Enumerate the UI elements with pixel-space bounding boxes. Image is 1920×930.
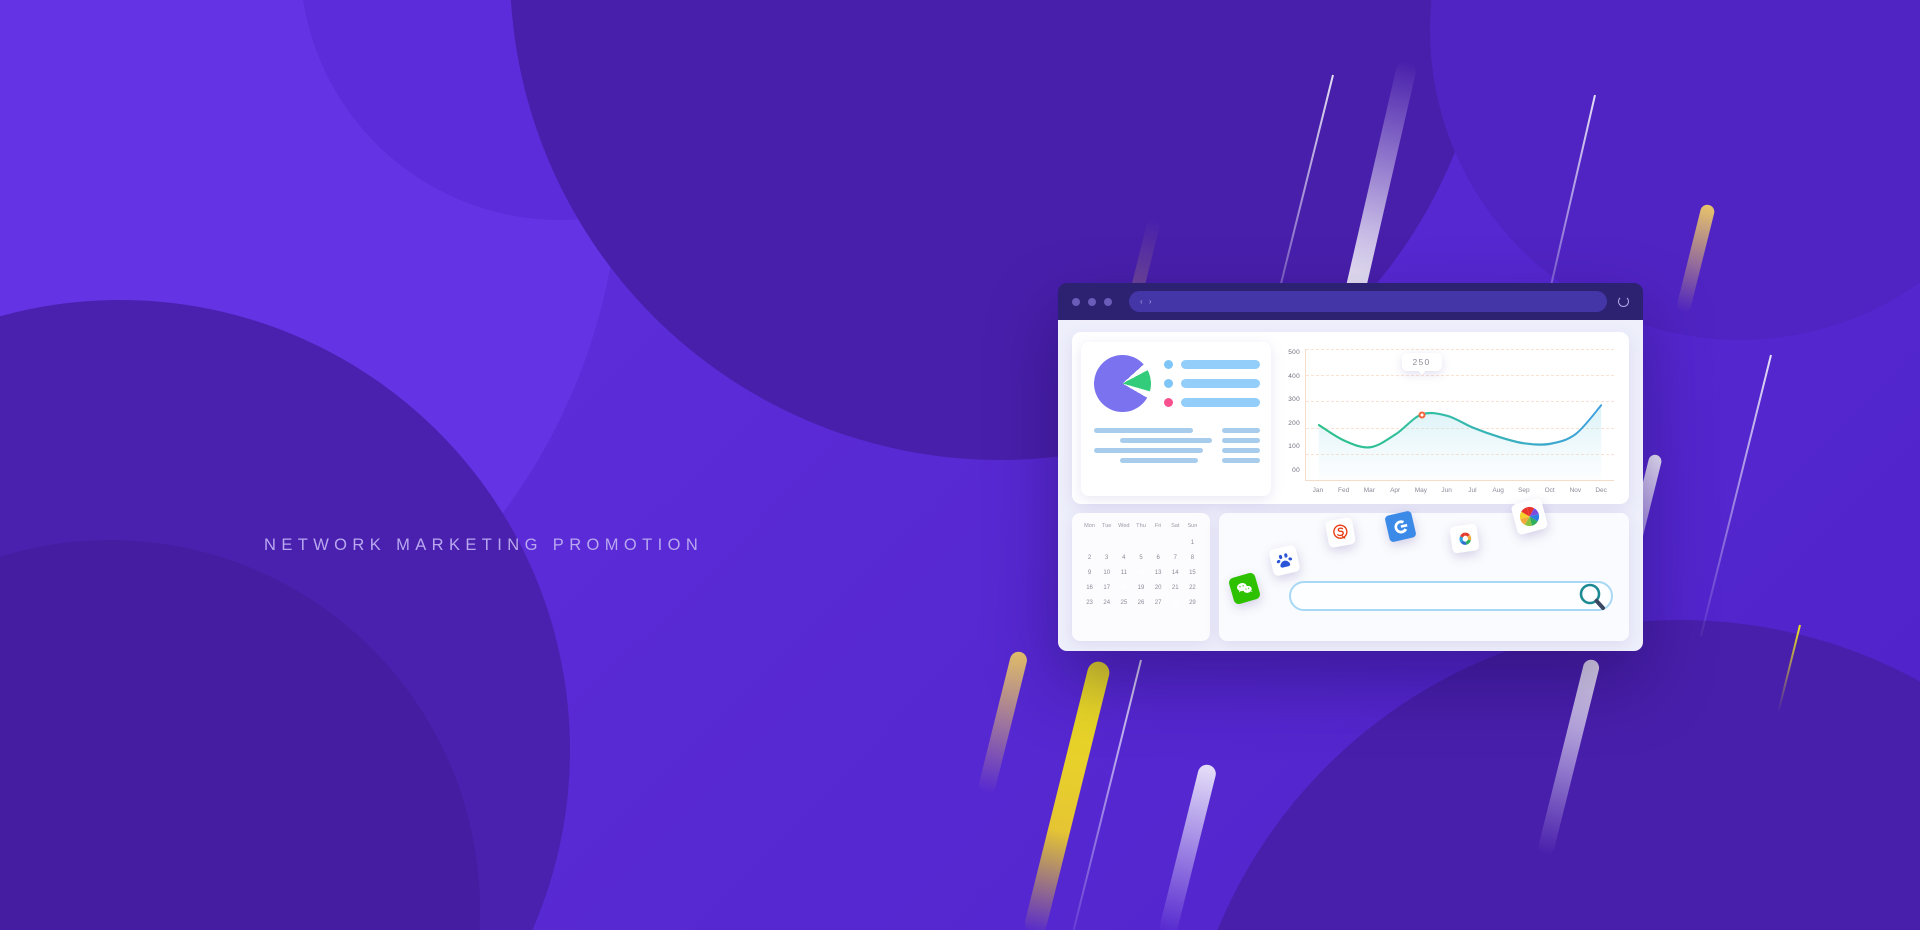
legend-item	[1164, 379, 1260, 388]
calendar-day[interactable]: 7	[1167, 553, 1184, 564]
calendar-day-label: 21	[1172, 585, 1179, 591]
calendar-day[interactable]: 28	[1167, 598, 1184, 609]
calendar-day-label: 7	[1174, 555, 1177, 561]
calendar-day-label: 23	[1086, 600, 1093, 606]
magnifier-icon[interactable]	[1577, 581, 1607, 618]
calendar-day-label: 18	[1121, 585, 1128, 591]
calendar-day-label: 29	[1189, 600, 1196, 606]
pie-legend	[1164, 360, 1260, 407]
calendar-day-label: 1	[1191, 540, 1194, 546]
legend-bar-3	[1181, 398, 1260, 407]
chart-marker-point	[1418, 411, 1425, 418]
legend-bar-1	[1181, 360, 1260, 369]
close-icon[interactable]	[1072, 298, 1080, 306]
bottom-row: MonTueWedThuFriSatSun1234567891011121314…	[1072, 513, 1629, 641]
streak-gold-3	[1023, 659, 1112, 930]
calendar-day-label: 22	[1189, 585, 1196, 591]
window-controls[interactable]	[1072, 298, 1118, 306]
calendar-day[interactable]: 3	[1098, 553, 1115, 564]
calendar-day-label: 16	[1086, 585, 1093, 591]
calendar-day[interactable]: 12	[1132, 568, 1149, 579]
calendar-day[interactable]: 19	[1132, 583, 1149, 594]
sogou-icon[interactable]	[1325, 517, 1356, 548]
calendar-blank	[1167, 538, 1184, 549]
calendar-day-label: 14	[1172, 570, 1179, 576]
pie-panel	[1081, 342, 1271, 496]
x-tick: Jul	[1460, 487, 1486, 494]
calendar-day-label: 10	[1103, 570, 1110, 576]
calendar-weekday: Sun	[1184, 523, 1201, 534]
baidu-icon[interactable]	[1268, 544, 1300, 576]
calendar-day-label: 28	[1172, 600, 1179, 606]
calendar-day-label: 11	[1121, 570, 1127, 576]
x-tick: Dec	[1588, 487, 1614, 494]
calendar-day-label: 2	[1088, 555, 1091, 561]
calendar-day-label: 27	[1155, 600, 1162, 606]
calendar-day[interactable]: 5	[1132, 553, 1149, 564]
x-tick: Sep	[1511, 487, 1537, 494]
line-chart-panel: 50040030020010000	[1276, 342, 1618, 496]
chart-tooltip: 250	[1401, 353, 1441, 371]
calendar-day[interactable]: 2	[1081, 553, 1098, 564]
calendar-day[interactable]: 6	[1150, 553, 1167, 564]
search-input[interactable]	[1305, 591, 1597, 601]
text-bar	[1222, 448, 1260, 453]
pie-row	[1094, 355, 1260, 412]
calendar-day[interactable]: 24	[1098, 598, 1115, 609]
calendar-day[interactable]: 15	[1184, 568, 1201, 579]
calendar-day[interactable]: 26	[1132, 598, 1149, 609]
calendar-day[interactable]: 10	[1098, 568, 1115, 579]
reload-icon[interactable]	[1618, 296, 1629, 307]
calendar-day-label: 4	[1122, 555, 1125, 561]
calendar-day-label: 8	[1191, 555, 1194, 561]
pie-chart-icon	[1094, 355, 1151, 412]
text-bar	[1094, 428, 1193, 433]
calendar-weekday: Thu	[1132, 523, 1149, 534]
browser-viewport: 50040030020010000	[1058, 320, 1643, 651]
x-tick: May	[1408, 487, 1434, 494]
x-tick: Oct	[1537, 487, 1563, 494]
chart-svg	[1306, 349, 1614, 480]
legend-item	[1164, 398, 1260, 407]
y-tick: 500	[1283, 349, 1300, 356]
calendar-day-label: 26	[1138, 600, 1145, 606]
calendar-day[interactable]: 1	[1184, 538, 1201, 549]
calendar-day[interactable]: 29	[1184, 598, 1201, 609]
calendar-day[interactable]: 27	[1150, 598, 1167, 609]
calendar-day-label: 12	[1138, 570, 1145, 576]
calendar-day[interactable]: 18	[1115, 583, 1132, 594]
calendar-weekday: Sat	[1167, 523, 1184, 534]
calendar-day-label: 9	[1088, 570, 1091, 576]
legend-item	[1164, 360, 1260, 369]
calendar-day[interactable]: 23	[1081, 598, 1098, 609]
calendar-day-label: 5	[1139, 555, 1142, 561]
calendar-weekday: Tue	[1098, 523, 1115, 534]
y-tick: 200	[1283, 420, 1300, 427]
calendar-day[interactable]: 21	[1167, 583, 1184, 594]
calendar-day-label: 13	[1155, 570, 1162, 576]
streak-thin-3	[1700, 355, 1772, 637]
streak-wide-5	[1158, 763, 1218, 930]
maximize-icon[interactable]	[1104, 298, 1112, 306]
calendar-weekday: Fri	[1150, 523, 1167, 534]
so360-icon[interactable]	[1449, 523, 1479, 553]
x-tick: Aug	[1485, 487, 1511, 494]
text-bar	[1120, 458, 1198, 463]
page-stage: NETWORK MARKETING PROMOTION ‹ ›	[0, 0, 1920, 930]
browser-window: ‹ ›	[1058, 283, 1643, 651]
calendar-day-label: 20	[1155, 585, 1162, 591]
calendar-day-label: 3	[1105, 555, 1108, 561]
chart-plot-area: 250	[1305, 349, 1614, 481]
calendar-blank	[1115, 538, 1132, 549]
calendar-blank	[1150, 538, 1167, 549]
search-card	[1219, 513, 1629, 641]
calendar-blank	[1098, 538, 1115, 549]
calendar-day-label: 24	[1103, 600, 1110, 606]
calendar-day[interactable]: 16	[1081, 583, 1098, 594]
text-bars-left	[1094, 428, 1212, 463]
legend-dot-2	[1164, 379, 1173, 388]
calendar-blank	[1081, 538, 1098, 549]
y-tick: 100	[1283, 443, 1300, 450]
analytics-card: 50040030020010000	[1072, 332, 1629, 504]
calendar-day-label: 17	[1103, 585, 1110, 591]
calendar-day[interactable]: 22	[1184, 583, 1201, 594]
calendar-day[interactable]: 9	[1081, 568, 1098, 579]
calendar-grid[interactable]: MonTueWedThuFriSatSun1234567891011121314…	[1081, 523, 1201, 609]
text-bar	[1222, 428, 1260, 433]
wechat-icon[interactable]	[1228, 572, 1261, 605]
calendar-day[interactable]: 8	[1184, 553, 1201, 564]
x-tick: Jan	[1305, 487, 1331, 494]
streak-gold-2	[977, 650, 1029, 795]
pie-text-placeholder	[1094, 428, 1260, 463]
legend-dot-3	[1164, 398, 1173, 407]
calendar-weekday: Wed	[1115, 523, 1132, 534]
calendar-day[interactable]: 20	[1150, 583, 1167, 594]
address-bar[interactable]: ‹ ›	[1129, 291, 1607, 312]
legend-dot-1	[1164, 360, 1173, 369]
calendar-day-label: 25	[1121, 600, 1128, 606]
text-bar	[1222, 438, 1260, 443]
y-tick: 300	[1283, 396, 1300, 403]
calendar-day-label: 19	[1138, 585, 1145, 591]
y-tick: 00	[1283, 467, 1300, 474]
calendar-day[interactable]: 25	[1115, 598, 1132, 609]
text-bars-right	[1222, 428, 1260, 463]
x-tick: Fed	[1331, 487, 1357, 494]
minimize-icon[interactable]	[1088, 298, 1096, 306]
calendar-blank	[1132, 538, 1149, 549]
text-bar	[1222, 458, 1260, 463]
calendar-weekday: Mon	[1081, 523, 1098, 534]
chart-x-axis: JanFedMarAprMayJunJulAugSepOctNovDec	[1305, 481, 1614, 494]
browser-chrome: ‹ ›	[1058, 283, 1643, 320]
nav-arrows-icon[interactable]: ‹ ›	[1140, 298, 1154, 306]
bg-blob-e	[1180, 620, 1920, 930]
search-input-wrap[interactable]	[1289, 581, 1613, 611]
chart-plot-wrap: 250 JanFedMarAprMayJunJulAugSepOctNovDec	[1305, 349, 1614, 494]
calendar-day-label: 15	[1189, 570, 1196, 576]
calendar-day[interactable]: 13	[1150, 568, 1167, 579]
x-tick: Jun	[1434, 487, 1460, 494]
x-tick: Apr	[1382, 487, 1408, 494]
y-tick: 400	[1283, 373, 1300, 380]
x-tick: Mar	[1357, 487, 1383, 494]
x-tick: Nov	[1563, 487, 1589, 494]
calendar-day-label: 6	[1156, 555, 1159, 561]
calendar-day[interactable]: 14	[1167, 568, 1184, 579]
calendar-day[interactable]: 17	[1098, 583, 1115, 594]
text-bar	[1094, 448, 1203, 453]
text-bar	[1120, 438, 1212, 443]
chart-y-axis: 50040030020010000	[1283, 349, 1305, 494]
google-icon[interactable]	[1384, 510, 1416, 542]
legend-bar-2	[1181, 379, 1260, 388]
page-title: NETWORK MARKETING PROMOTION	[264, 536, 703, 555]
calendar-card[interactable]: MonTueWedThuFriSatSun1234567891011121314…	[1072, 513, 1210, 641]
calendar-day[interactable]: 11	[1115, 568, 1132, 579]
calendar-day[interactable]: 4	[1115, 553, 1132, 564]
